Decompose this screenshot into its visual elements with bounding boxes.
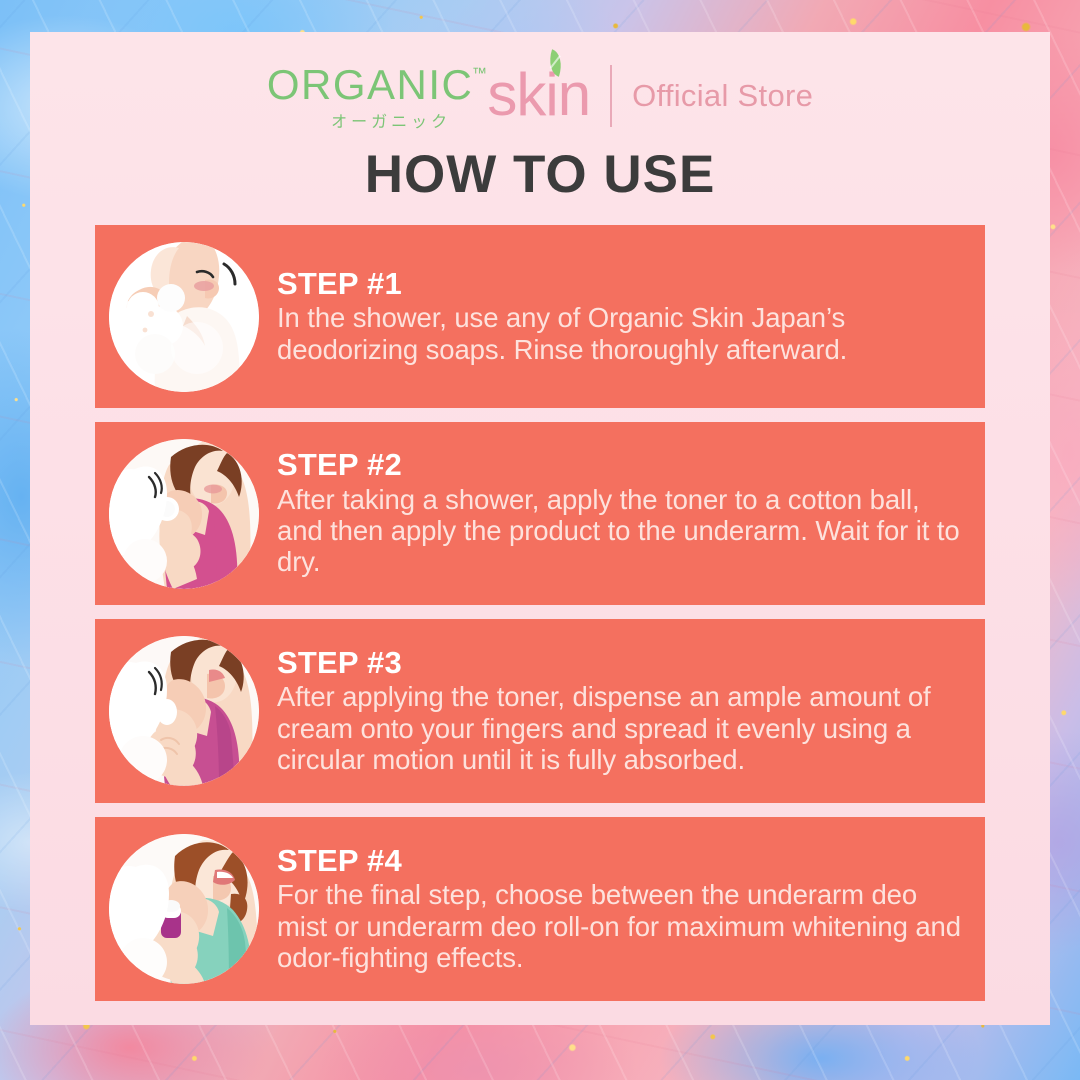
- step-band-4[interactable]: STEP #4 For the final step, choose betwe…: [95, 817, 985, 1001]
- brand-divider: [610, 65, 612, 127]
- trademark-symbol: ™: [472, 66, 489, 81]
- woman-applying-deo-rollon-illustration: [109, 834, 259, 984]
- brand-header: ORGANIC™ オーガニック skin Official Store: [30, 32, 1050, 140]
- step-band-3[interactable]: STEP #3 After applying the toner, dispen…: [95, 619, 985, 803]
- step-heading-4: STEP #4: [277, 845, 965, 878]
- step-description-4: For the final step, choose between the u…: [277, 879, 965, 973]
- step-text-4: STEP #4 For the final step, choose betwe…: [277, 845, 971, 974]
- page-title: HOW TO USE: [30, 144, 1050, 205]
- step-heading-3: STEP #3: [277, 647, 965, 680]
- steps-list: STEP #1 In the shower, use any of Organi…: [30, 225, 1050, 1001]
- step-heading-2: STEP #2: [277, 449, 965, 482]
- official-store-label: Official Store: [632, 78, 813, 114]
- step-band-1[interactable]: STEP #1 In the shower, use any of Organi…: [95, 225, 985, 408]
- step-text-2: STEP #2 After taking a shower, apply the…: [277, 449, 971, 578]
- organic-wordmark: ORGANIC™ オーガニック: [267, 64, 474, 132]
- step-heading-1: STEP #1: [277, 268, 965, 301]
- skin-wordmark: skin: [487, 65, 590, 125]
- step-text-1: STEP #1 In the shower, use any of Organi…: [277, 268, 971, 365]
- step-text-3: STEP #3 After applying the toner, dispen…: [277, 647, 971, 776]
- organic-word: ORGANIC™: [267, 64, 474, 106]
- woman-showering-with-foam-illustration: [109, 242, 259, 392]
- organic-katakana: オーガニック: [331, 108, 451, 132]
- step-description-1: In the shower, use any of Organic Skin J…: [277, 302, 965, 365]
- woman-applying-cream-circular-motion-illustration: [109, 636, 259, 786]
- step-description-3: After applying the toner, dispense an am…: [277, 681, 965, 775]
- organic-text: ORGANIC: [267, 61, 474, 108]
- step-description-2: After taking a shower, apply the toner t…: [277, 484, 965, 578]
- step-band-2[interactable]: STEP #2 After taking a shower, apply the…: [95, 422, 985, 605]
- woman-applying-toner-cotton-ball-illustration: [109, 439, 259, 589]
- content-card: ORGANIC™ オーガニック skin Official Store HOW …: [30, 32, 1050, 1025]
- skin-text: skin: [487, 61, 590, 128]
